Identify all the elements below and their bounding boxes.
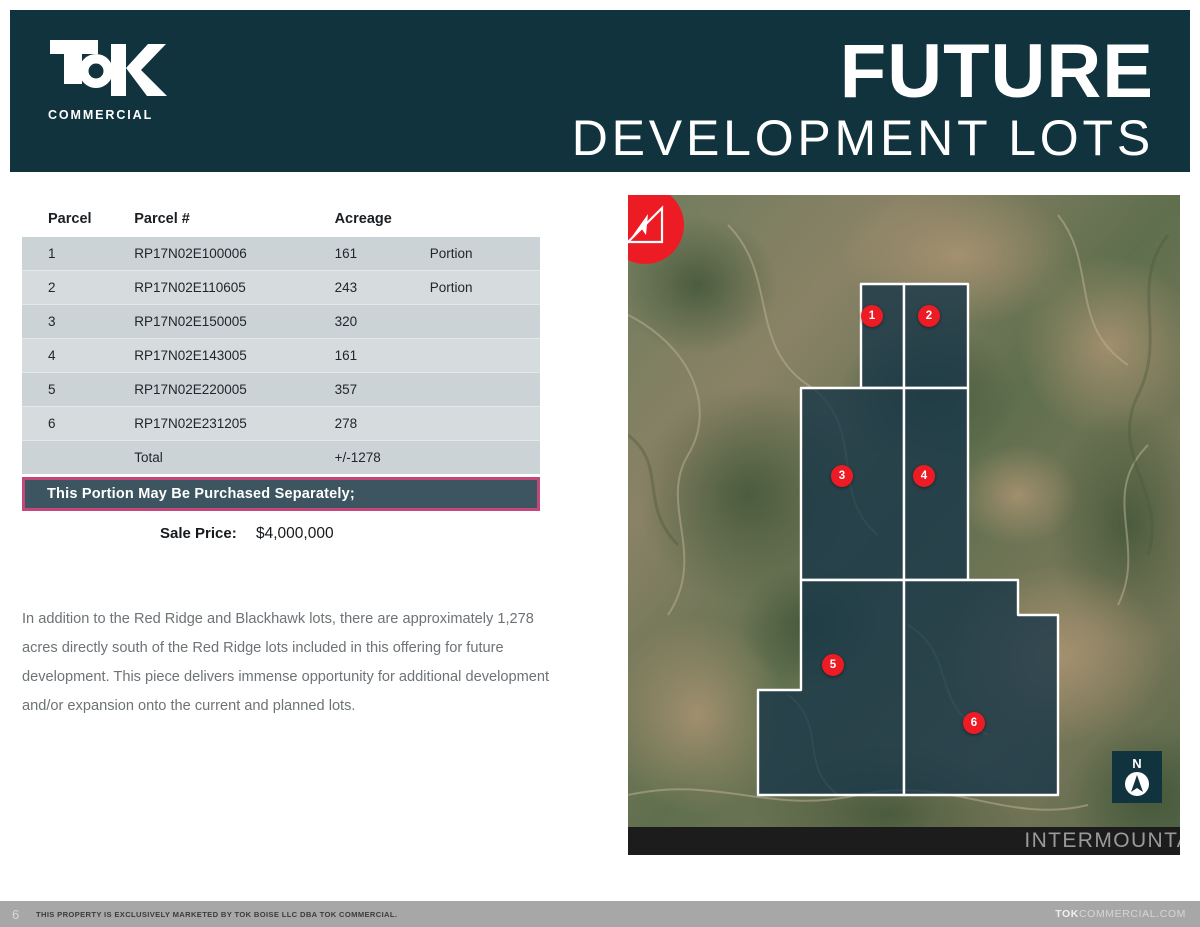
slide-page: COMMERCIAL FUTURE DEVELOPMENT LOTS Parce… — [0, 0, 1200, 927]
cell-note — [430, 441, 540, 475]
cell-parcel-no: RP17N02E220005 — [134, 373, 334, 407]
compass-needle-icon — [1124, 771, 1150, 797]
cell-note — [430, 407, 540, 441]
col-header-parcel-no: Parcel # — [134, 205, 334, 237]
table-header-row: Parcel Parcel # Acreage — [22, 205, 540, 237]
cell-acreage: 161 — [335, 339, 430, 373]
cell-note — [430, 305, 540, 339]
cell-acreage: 278 — [335, 407, 430, 441]
parcel-polygon-4 — [904, 388, 968, 580]
table-row[interactable]: 4 RP17N02E143005 161 — [22, 339, 540, 373]
parcel-table-body: 1 RP17N02E100006 161 Portion 2 RP17N02E1… — [22, 237, 540, 474]
map-marker-3[interactable]: 3 — [831, 465, 853, 487]
map-marker-6[interactable]: 6 — [963, 712, 985, 734]
table-row[interactable]: 6 RP17N02E231205 278 — [22, 407, 540, 441]
footer-disclaimer: THIS PROPERTY IS EXCLUSIVELY MARKETED BY… — [36, 910, 397, 919]
sale-price-label: Sale Price: — [22, 525, 244, 543]
page-title: FUTURE — [572, 36, 1154, 108]
parcel-polygon-6 — [904, 580, 1058, 795]
footer-page-number: 6 — [12, 907, 36, 922]
map-marker-5[interactable]: 5 — [822, 654, 844, 676]
cell-total-acreage: +/-1278 — [335, 441, 430, 475]
compass-rose: N — [1112, 751, 1162, 803]
parcel-table-head: Parcel Parcel # Acreage — [22, 205, 540, 237]
footer-website[interactable]: TOKCOMMERCIAL.COM — [1055, 908, 1186, 920]
cell-parcel-no: RP17N02E143005 — [134, 339, 334, 373]
table-row[interactable]: 3 RP17N02E150005 320 — [22, 305, 540, 339]
cell-parcel-no: RP17N02E231205 — [134, 407, 334, 441]
tok-logo-icon — [48, 38, 168, 100]
footer-website-brand: TOK — [1055, 908, 1079, 920]
cell-parcel: 2 — [22, 271, 134, 305]
col-header-parcel: Parcel — [22, 205, 134, 237]
compass-north-label: N — [1132, 757, 1141, 770]
cell-acreage: 357 — [335, 373, 430, 407]
cell-note — [430, 373, 540, 407]
cell-note — [430, 339, 540, 373]
table-row[interactable]: 2 RP17N02E110605 243 Portion — [22, 271, 540, 305]
map-marker-4[interactable]: 4 — [913, 465, 935, 487]
sale-price-value: $4,000,000 — [244, 525, 334, 543]
table-row[interactable]: 5 RP17N02E220005 357 — [22, 373, 540, 407]
parcel-polygon-5 — [758, 580, 904, 795]
logo-subtitle: COMMERCIAL — [48, 108, 188, 122]
cell-acreage: 161 — [335, 237, 430, 271]
cell-parcel: 4 — [22, 339, 134, 373]
col-header-acreage: Acreage — [335, 205, 430, 237]
cell-parcel: 3 — [22, 305, 134, 339]
parcel-polygon-1 — [861, 284, 904, 388]
page-subtitle: DEVELOPMENT LOTS — [572, 110, 1154, 166]
left-content-column: Parcel Parcel # Acreage 1 RP17N02E100006… — [22, 205, 582, 721]
cell-note: Portion — [430, 271, 540, 305]
map-watermark-text: INTERMOUNTAIN — [1024, 829, 1180, 853]
parcel-table: Parcel Parcel # Acreage 1 RP17N02E100006… — [22, 205, 540, 474]
parcel-polygon-2 — [904, 284, 968, 388]
cell-total-label: Total — [134, 441, 334, 475]
cell-note: Portion — [430, 237, 540, 271]
page-header: COMMERCIAL FUTURE DEVELOPMENT LOTS — [10, 10, 1190, 172]
map-marker-1[interactable]: 1 — [861, 305, 883, 327]
map-watermark-bar: INTERMOUNTAIN — [628, 827, 1180, 855]
purchase-separately-banner: This Portion May Be Purchased Separately… — [22, 477, 540, 511]
col-header-note — [430, 205, 540, 237]
cell-parcel-no: RP17N02E150005 — [134, 305, 334, 339]
cell-acreage: 243 — [335, 271, 430, 305]
header-title-block: FUTURE DEVELOPMENT LOTS — [572, 36, 1154, 166]
brand-logo[interactable]: COMMERCIAL — [48, 38, 188, 122]
aerial-map[interactable]: 1 2 3 4 5 6 N INTERMOUNTAIN — [628, 195, 1180, 855]
cell-parcel-no: RP17N02E110605 — [134, 271, 334, 305]
table-total-row: Total +/-1278 — [22, 441, 540, 475]
table-row[interactable]: 1 RP17N02E100006 161 Portion — [22, 237, 540, 271]
cell-parcel-no: RP17N02E100006 — [134, 237, 334, 271]
page-footer: 6 THIS PROPERTY IS EXCLUSIVELY MARKETED … — [0, 901, 1200, 927]
parcel-polygon-3 — [801, 388, 904, 580]
cell-parcel — [22, 441, 134, 475]
cell-parcel: 6 — [22, 407, 134, 441]
mountain-triangle-icon — [628, 202, 668, 248]
sale-price-row: Sale Price: $4,000,000 — [22, 525, 540, 543]
cell-acreage: 320 — [335, 305, 430, 339]
parcel-overlay — [628, 195, 1180, 855]
footer-website-domain: COMMERCIAL.COM — [1079, 908, 1186, 920]
cell-parcel: 5 — [22, 373, 134, 407]
map-marker-2[interactable]: 2 — [918, 305, 940, 327]
description-paragraph: In addition to the Red Ridge and Blackha… — [22, 605, 552, 721]
cell-parcel: 1 — [22, 237, 134, 271]
